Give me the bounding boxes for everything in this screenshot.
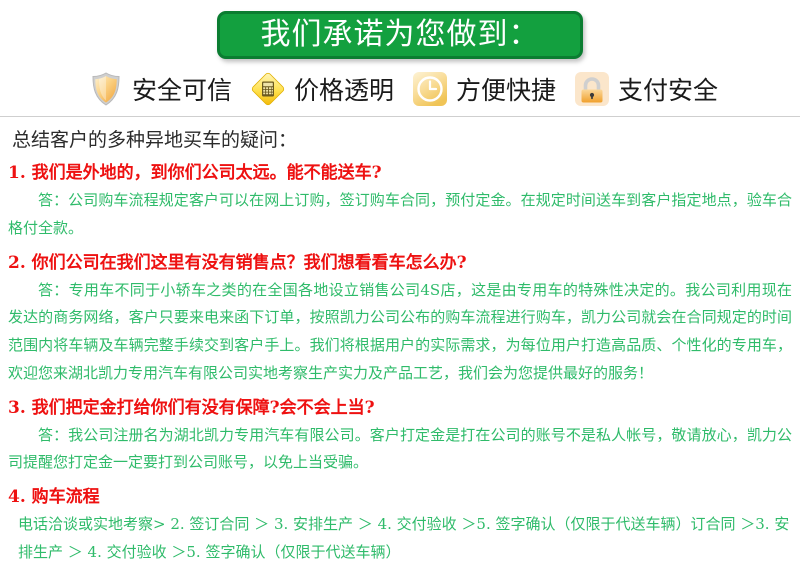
faq-content: 总结客户的多种异地买车的疑问： 1. 我们是外地的，到你们公司太远。能不能送车?… xyxy=(0,117,800,567)
question-2: 2. 你们公司在我们这里有没有销售点？我们想看看车怎么办? xyxy=(8,248,794,273)
clock-icon xyxy=(412,71,448,107)
feature-item-convenient: 方便快捷 xyxy=(412,71,556,107)
feature-label-safe: 安全可信 xyxy=(132,71,232,107)
lock-icon xyxy=(574,71,610,107)
answer-1: 答：公司购车流程规定客户可以在网上订购，签订购车合同，预付定金。在规定时间送车到… xyxy=(8,187,792,243)
promise-banner: 我们承诺为您做到： xyxy=(217,11,583,59)
question-3: 3. 我们把定金打给你们有没有保障?会不会上当? xyxy=(8,393,794,418)
feature-item-payment: 支付安全 xyxy=(574,71,718,107)
feature-label-convenient: 方便快捷 xyxy=(456,71,556,107)
banner-row: 我们承诺为您做到： xyxy=(0,0,800,59)
answer-2: 答：专用车不同于小轿车之类的在全国各地设立销售公司4S店，这是由专用车的特殊性决… xyxy=(8,277,792,388)
flow-steps: 电话洽谈或实地考察> 2. 签订合同 ＞ 3. 安排生产 ＞ 4. 交付验收 ＞… xyxy=(18,511,792,567)
calculator-icon xyxy=(250,71,286,107)
shield-icon xyxy=(88,71,124,107)
question-1: 1. 我们是外地的，到你们公司太远。能不能送车? xyxy=(8,158,794,183)
feature-row: 安全可信 xyxy=(0,71,800,107)
feature-label-price: 价格透明 xyxy=(294,71,394,107)
feature-label-payment: 支付安全 xyxy=(618,71,718,107)
feature-item-price: 价格透明 xyxy=(250,71,394,107)
banner-title: 我们承诺为您做到： xyxy=(261,20,540,50)
flow-title: 4. 购车流程 xyxy=(8,482,794,507)
answer-3: 答：我公司注册名为湖北凯力专用汽车有限公司。客户打定金是打在公司的账号不是私人帐… xyxy=(8,422,792,478)
feature-item-safe: 安全可信 xyxy=(88,71,232,107)
page-title: 总结客户的多种异地买车的疑问： xyxy=(12,125,794,152)
